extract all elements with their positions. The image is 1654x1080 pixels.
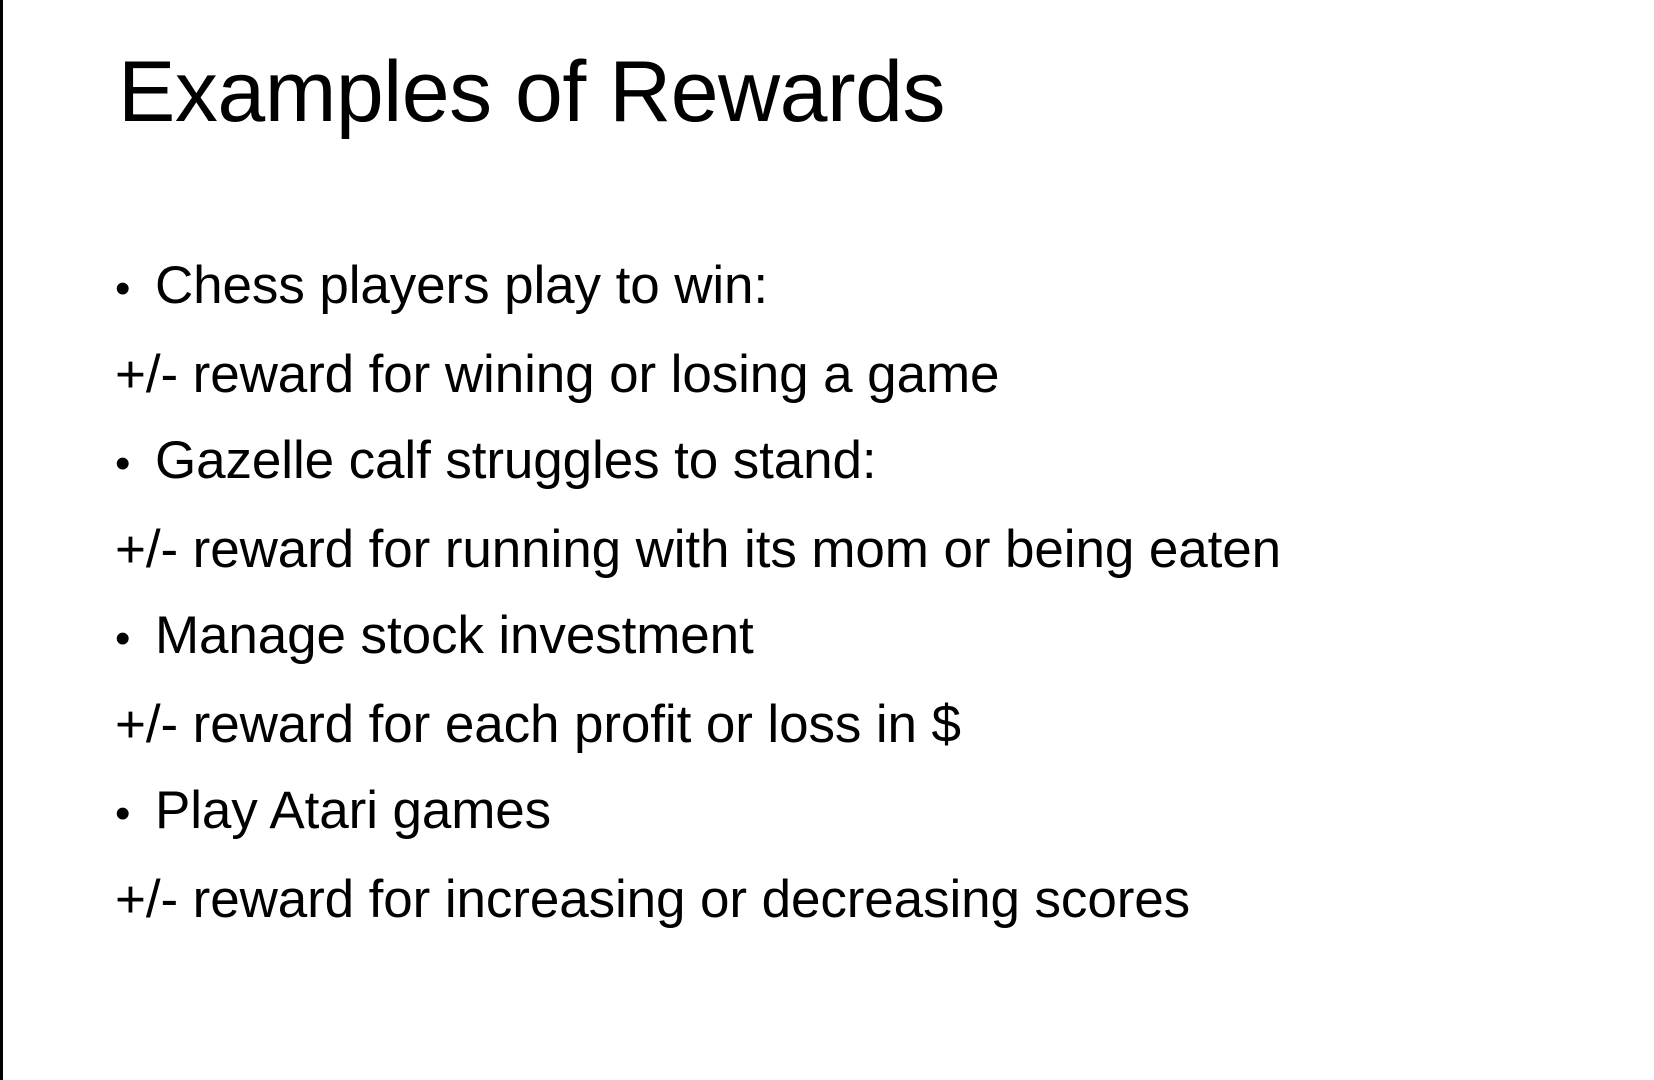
slide-body-content: • Chess players play to win: +/- reward … [115,243,1575,943]
list-item: +/- reward for wining or losing a game [115,332,1575,418]
list-item-label: Chess players play to win: [155,243,768,329]
list-item-label: Gazelle calf struggles to stand: [155,418,877,504]
bullet-icon: • [115,246,155,332]
list-item: • Play Atari games [115,768,1575,857]
list-item: • Chess players play to win: [115,243,1575,332]
bullet-icon: • [115,771,155,857]
list-item-label: +/- reward for running with its mom or b… [115,507,1281,593]
list-item-label: +/- reward for wining or losing a game [115,332,999,418]
list-item: • Manage stock investment [115,593,1575,682]
bullet-icon: • [115,421,155,507]
list-item: +/- reward for increasing or decreasing … [115,857,1575,943]
list-item: • Gazelle calf struggles to stand: [115,418,1575,507]
list-item: +/- reward for each profit or loss in $ [115,682,1575,768]
list-item-label: +/- reward for increasing or decreasing … [115,857,1190,943]
list-item-label: Manage stock investment [155,593,754,679]
list-item: +/- reward for running with its mom or b… [115,507,1575,593]
page-title: Examples of Rewards [118,46,1538,139]
list-item-label: +/- reward for each profit or loss in $ [115,682,961,768]
list-item-label: Play Atari games [155,768,551,854]
bullet-icon: • [115,596,155,682]
presentation-slide: Examples of Rewards • Chess players play… [0,0,1654,1080]
